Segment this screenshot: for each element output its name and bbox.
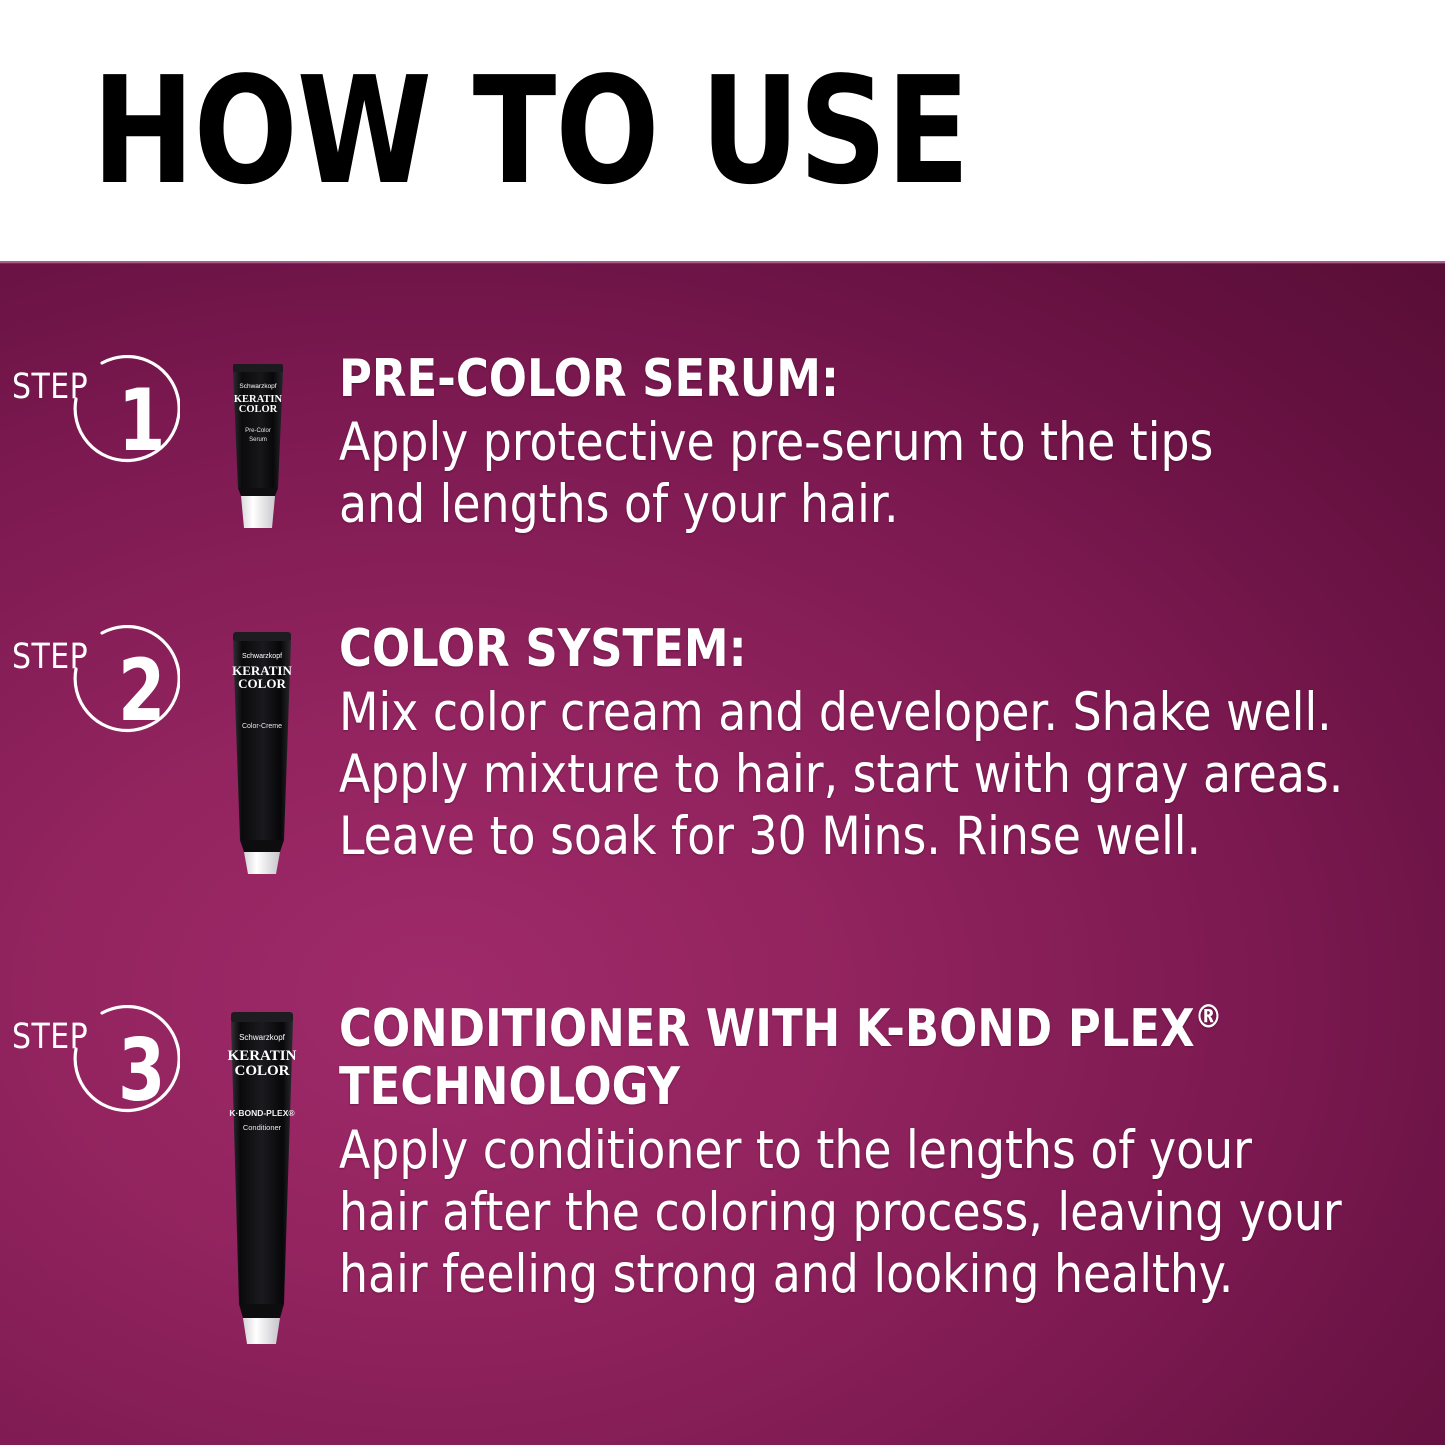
step-body-line: hair after the coloring process, leaving… xyxy=(339,1182,1342,1244)
step-body-line: Apply protective pre-serum to the tips xyxy=(339,412,1213,474)
step-number-1: 1 xyxy=(118,378,165,464)
step-heading-3-line2: TECHNOLOGY xyxy=(339,1057,680,1117)
step-badge-2: STEP 2 xyxy=(0,620,205,750)
step-body-line: Apply conditioner to the lengths of your xyxy=(339,1120,1342,1182)
tube-variant2-1: Serum xyxy=(249,437,267,443)
tube-line2-3: COLOR xyxy=(234,1063,289,1079)
tube-variant1-3: K·BOND-PLEX® xyxy=(229,1108,295,1118)
step-text-1: PRE-COLOR SERUM: Apply protective pre-se… xyxy=(339,350,1250,536)
step-body-line: Leave to soak for 30 Mins. Rinse well. xyxy=(339,806,1343,868)
step-heading-3-line1: CONDITIONER WITH K-BOND PLEX xyxy=(339,999,1195,1059)
tube-brand-2: Schwarzkopf xyxy=(242,653,282,660)
step-label-1: STEP xyxy=(12,370,88,405)
step-body-2: Mix color cream and developer. Shake wel… xyxy=(339,682,1343,868)
step-label-3: STEP xyxy=(12,1020,88,1055)
tube-line2-2: COLOR xyxy=(238,676,286,691)
step-row-1: STEP 1 xyxy=(0,350,1250,536)
how-to-use-poster: HOW TO USE STEP 1 xyxy=(0,0,1445,1445)
step-row-2: STEP 2 xyxy=(0,620,1385,868)
step-text-2: COLOR SYSTEM: Mix color cream and develo… xyxy=(339,620,1385,868)
step-body-line: Mix color cream and developer. Shake wel… xyxy=(339,682,1343,744)
header-band: HOW TO USE xyxy=(0,0,1445,263)
tube-brand-3: Schwarzkopf xyxy=(239,1033,286,1042)
step-row-3: STEP 3 xyxy=(0,1000,1383,1306)
step-body-3: Apply conditioner to the lengths of your… xyxy=(339,1120,1342,1306)
tube-line2-1: COLOR xyxy=(239,404,278,415)
step-badge-1: STEP 1 xyxy=(0,350,205,480)
step-body-line: and lengths of your hair. xyxy=(339,474,1213,536)
step-text-3: CONDITIONER WITH K-BOND PLEX®TECHNOLOGY … xyxy=(339,1000,1383,1306)
step-body-line: Apply mixture to hair, start with gray a… xyxy=(339,744,1343,806)
step-number-3: 3 xyxy=(118,1028,165,1114)
step-badge-3: STEP 3 xyxy=(0,1000,205,1130)
tube-variant2-3: Conditioner xyxy=(243,1123,282,1132)
step-heading-2: COLOR SYSTEM: xyxy=(339,620,1343,678)
step-body-1: Apply protective pre-serum to the tips a… xyxy=(339,412,1213,536)
step-heading-1: PRE-COLOR SERUM: xyxy=(339,350,1213,408)
step-heading-3: CONDITIONER WITH K-BOND PLEX®TECHNOLOGY xyxy=(339,1000,1342,1116)
step-body-line: hair feeling strong and looking healthy. xyxy=(339,1244,1342,1306)
page-title: HOW TO USE xyxy=(92,56,969,206)
step-label-2: STEP xyxy=(12,640,88,675)
registered-trademark-icon: ® xyxy=(1195,998,1223,1036)
tube-variant1-1: Pre-Color xyxy=(245,428,271,434)
tube-variant1-2: Color-Creme xyxy=(242,723,282,730)
tube-brand-1: Schwarzkopf xyxy=(239,383,276,390)
step-number-2: 2 xyxy=(118,648,165,734)
tube-line1-3: KERATIN xyxy=(228,1048,297,1064)
header-divider xyxy=(0,261,1445,264)
